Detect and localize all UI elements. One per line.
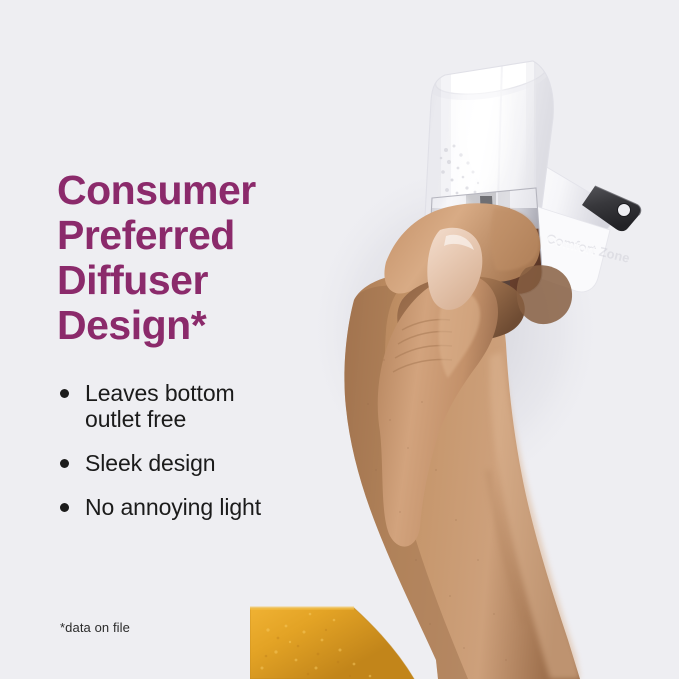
copy-block: Consumer Preferred Diffuser Design* Leav… — [57, 168, 357, 520]
feature-list: Leaves bottom outlet free Sleek design N… — [57, 380, 357, 520]
list-item: Leaves bottom outlet free — [57, 380, 357, 432]
list-item: Sleek design — [57, 450, 357, 476]
page-title: Consumer Preferred Diffuser Design* — [57, 168, 357, 348]
list-item: No annoying light — [57, 494, 357, 520]
promo-graphic: Comfort Zone Comfort — [0, 0, 679, 679]
footnote-text: *data on file — [60, 620, 130, 635]
